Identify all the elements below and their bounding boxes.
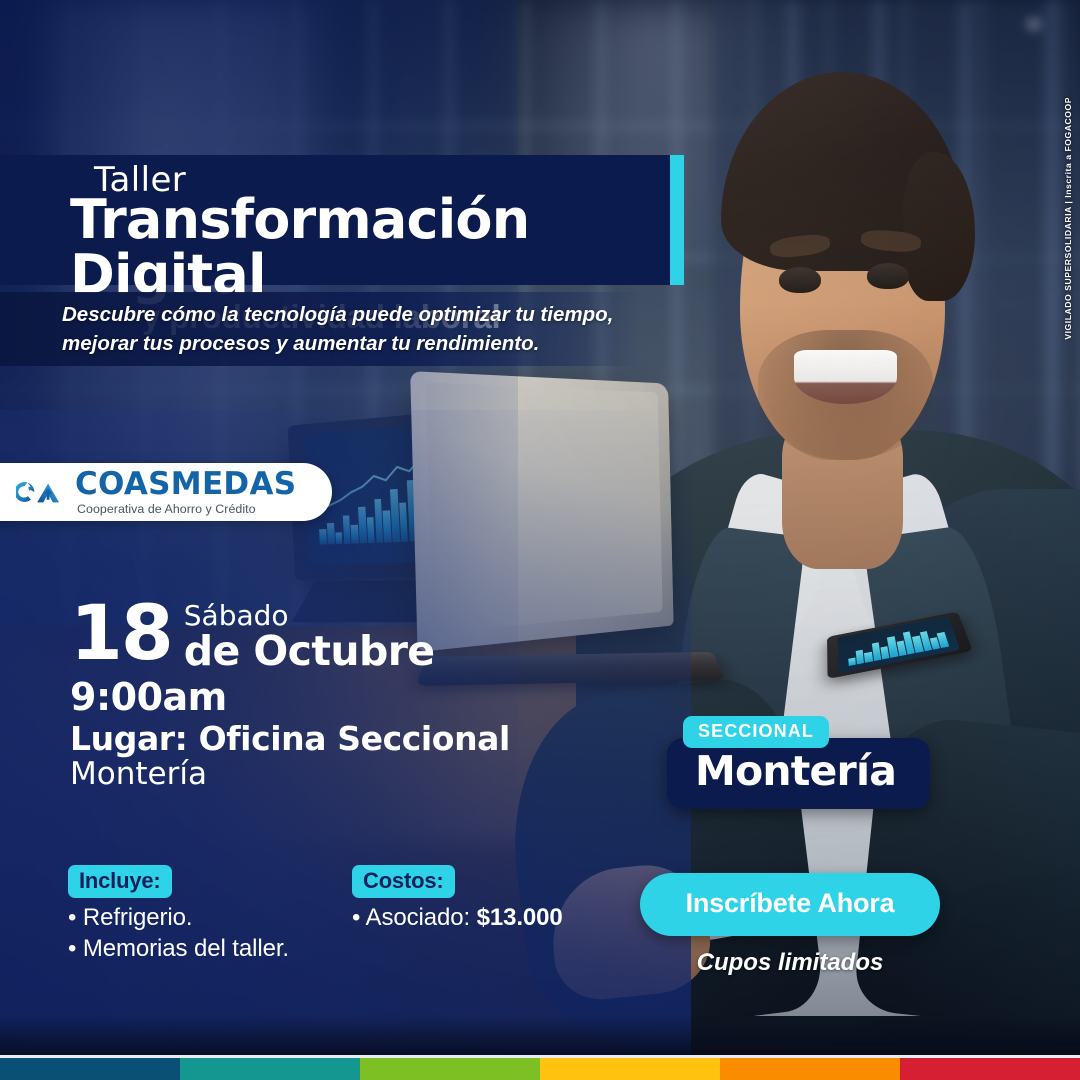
includes-list: • Refrigerio. • Memorias del taller. — [68, 902, 289, 964]
logo-name: COASMEDAS — [75, 469, 296, 500]
costs-list: • Asociado: $13.000 — [352, 902, 563, 933]
legal-vertical: VIGILADO SUPERSOLIDARIA | Inscrita a FOG… — [1063, 118, 1073, 318]
event-time: 9:00am — [70, 678, 510, 718]
event-date-row: 18 Sábado de Octubre — [70, 600, 510, 672]
list-item: • Refrigerio. — [68, 902, 289, 933]
description-band: Descubre cómo la tecnología puede optimi… — [0, 292, 640, 366]
event-month: de Octubre — [184, 631, 435, 672]
seccional-badge: SECCIONAL Montería — [667, 716, 1080, 809]
logo-text-group: COASMEDAS Cooperativa de Ahorro y Crédit… — [75, 469, 296, 515]
includes-chip: Incluye: — [68, 865, 172, 898]
event-city: Montería — [70, 758, 510, 791]
cost-amount: $13.000 — [477, 904, 563, 931]
costs-block: Costos: • Asociado: $13.000 — [352, 865, 563, 933]
list-item: • Asociado: $13.000 — [352, 902, 563, 933]
promo-poster: Taller Transformación Digital y producti… — [0, 0, 1080, 1080]
event-details: 18 Sábado de Octubre 9:00am Lugar: Ofici… — [70, 600, 510, 791]
includes-block: Incluye: • Refrigerio. • Memorias del ta… — [68, 865, 289, 964]
event-venue: Lugar: Oficina Seccional — [70, 721, 510, 757]
seccional-chip: SECCIONAL — [683, 716, 829, 748]
event-date-labels: Sábado de Octubre — [184, 600, 435, 672]
coasmedas-ca-arrows-icon — [16, 474, 66, 510]
footer-color-segment — [180, 1058, 360, 1080]
page-title: Transformación Digital — [70, 192, 670, 302]
seccional-city-box: Montería — [667, 738, 930, 809]
list-item: • Memorias del taller. — [68, 933, 289, 964]
cost-label: • Asociado: — [352, 904, 477, 931]
footer-color-segment — [0, 1058, 180, 1080]
costs-chip: Costos: — [352, 865, 455, 898]
description-text: Descubre cómo la tecnología puede optimi… — [0, 300, 640, 358]
footer-color-segment — [720, 1058, 900, 1080]
footer-color-bar — [0, 1058, 1080, 1080]
footer-color-segment — [900, 1058, 1080, 1080]
footer-color-segment — [360, 1058, 540, 1080]
footer-color-segment — [540, 1058, 720, 1080]
title-text-group: Taller Transformación Digital y producti… — [0, 155, 670, 285]
event-weekday: Sábado — [184, 602, 435, 630]
cta-note: Cupos limitados — [640, 949, 940, 977]
legal-text: VIGILADO SUPERSOLIDARIA | Inscrita a FOG… — [1063, 97, 1073, 340]
cta-group: Inscríbete Ahora Cupos limitados — [640, 873, 940, 977]
title-accent-stripe — [670, 155, 684, 285]
seccional-city: Montería — [695, 751, 896, 792]
brand-logo: COASMEDAS Cooperativa de Ahorro y Crédit… — [0, 463, 332, 521]
event-day-number: 18 — [70, 600, 172, 665]
register-button[interactable]: Inscríbete Ahora — [640, 873, 940, 936]
logo-tagline: Cooperativa de Ahorro y Crédito — [77, 503, 296, 515]
